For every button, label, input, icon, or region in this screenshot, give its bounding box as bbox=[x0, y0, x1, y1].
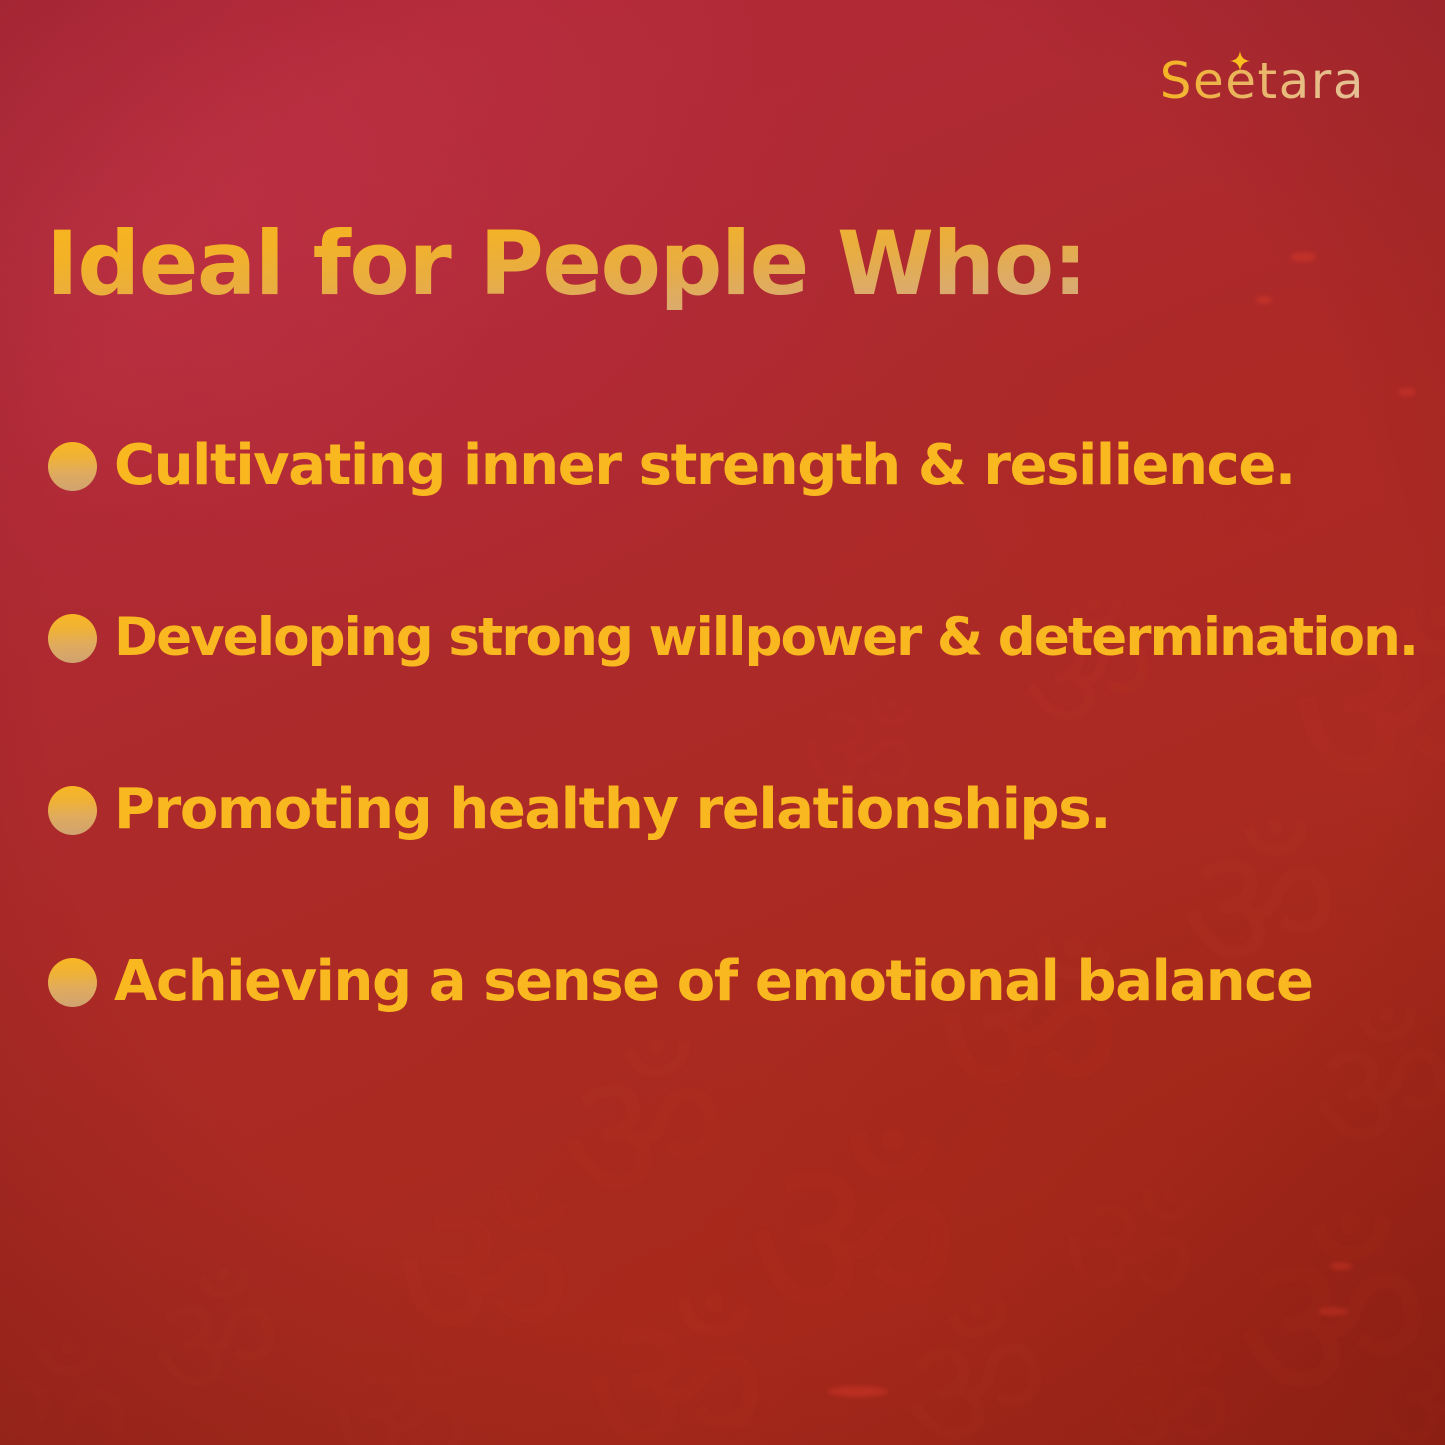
list-item: Developing strong willpower & determinat… bbox=[48, 588, 1428, 688]
list-item: Promoting healthy relationships. bbox=[48, 760, 1428, 860]
filled-circle-bullet-icon bbox=[48, 614, 97, 663]
filled-circle-bullet-icon bbox=[48, 786, 97, 835]
list-item: Cultivating inner strength & resilience. bbox=[48, 416, 1428, 516]
list-item-label: Achieving a sense of emotional balance bbox=[114, 951, 1313, 1013]
list-item-label: Promoting healthy relationships. bbox=[114, 779, 1110, 841]
brand-logo[interactable]: Seetara bbox=[1160, 56, 1365, 112]
filled-circle-bullet-icon bbox=[48, 442, 97, 491]
poster-canvas: ॐ ॐ ॐ ॐ ॐ ॐ ॐ ॐ ॐ ॐ ॐ ॐ ॐ ॐ ॐ ॐ ॐ ॐ ॐ ॐ … bbox=[0, 0, 1445, 1445]
list-item: Achieving a sense of emotional balance bbox=[48, 932, 1428, 1032]
filled-circle-bullet-icon bbox=[48, 958, 97, 1007]
benefits-list: Cultivating inner strength & resilience.… bbox=[48, 416, 1428, 1032]
list-item-label: Cultivating inner strength & resilience. bbox=[114, 435, 1295, 497]
page-title: Ideal for People Who: bbox=[46, 218, 1086, 310]
brand-logo-text: Seetara bbox=[1160, 56, 1365, 106]
list-item-label: Developing strong willpower & determinat… bbox=[114, 609, 1417, 667]
